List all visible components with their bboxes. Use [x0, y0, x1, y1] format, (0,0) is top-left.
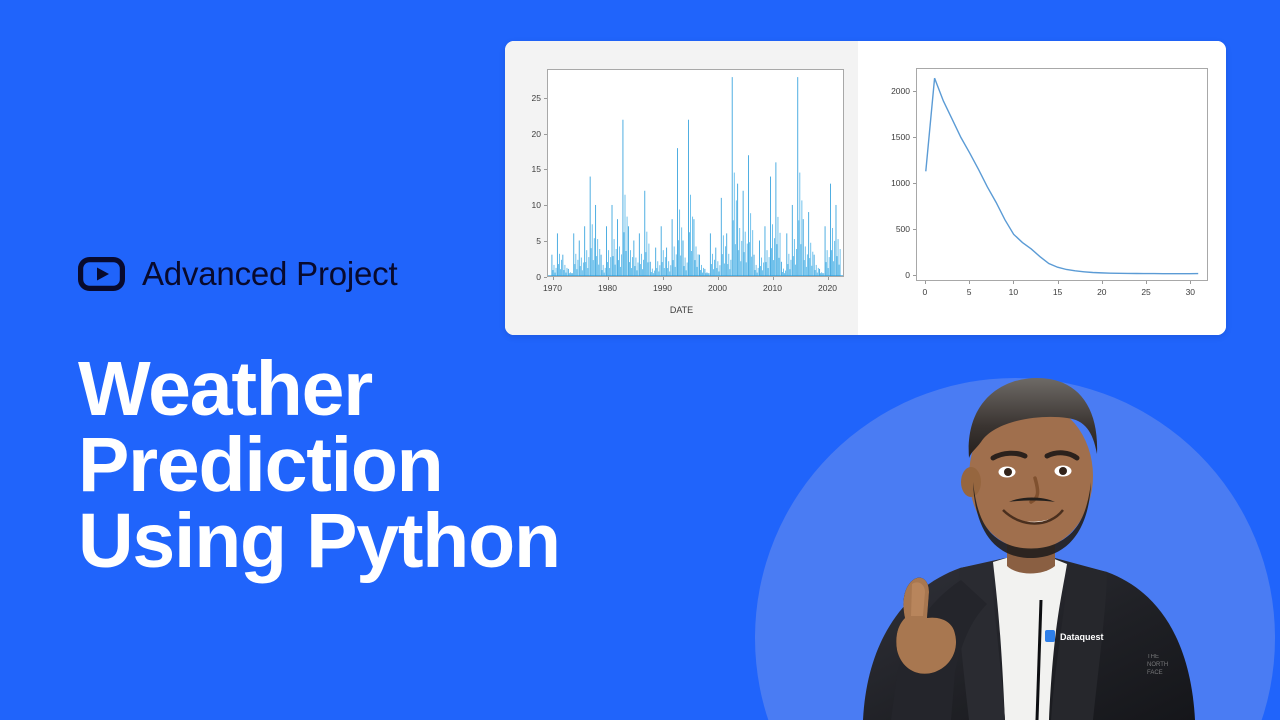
x-tick-label: 25	[1141, 287, 1150, 297]
x-tick-label: 2000	[708, 283, 727, 293]
x-axis-title-left: DATE	[505, 305, 858, 315]
y-tick-label: 5	[505, 236, 541, 246]
x-tick-mark	[718, 277, 719, 280]
y-tick-label: 2000	[858, 86, 910, 96]
page-title: Weather Prediction Using Python	[78, 352, 778, 580]
y-tick-mark	[913, 275, 916, 276]
svg-text:NORTH: NORTH	[1147, 662, 1168, 668]
precipitation-chart-panel: 0510152025197019801990200020102020 DATE	[505, 41, 858, 335]
play-button-icon	[78, 257, 125, 291]
y-tick-label: 25	[505, 93, 541, 103]
x-tick-label: 2020	[818, 283, 837, 293]
x-tick-mark	[773, 277, 774, 280]
x-tick-label: 1970	[543, 283, 562, 293]
instructor-photo: Dataquest THE NORTH FACE	[755, 300, 1275, 720]
title-line-1: Weather	[78, 352, 778, 428]
distribution-chart-panel: 0500100015002000051015202530	[858, 41, 1226, 335]
y-tick-label: 1000	[858, 178, 910, 188]
x-tick-label: 5	[967, 287, 972, 297]
x-tick-mark	[1146, 281, 1147, 284]
y-tick-mark	[544, 277, 547, 278]
x-tick-label: 2010	[763, 283, 782, 293]
y-tick-label: 20	[505, 129, 541, 139]
y-tick-mark	[544, 205, 547, 206]
x-tick-label: 10	[1009, 287, 1018, 297]
y-tick-label: 15	[505, 164, 541, 174]
x-tick-mark	[1190, 281, 1191, 284]
y-tick-mark	[913, 183, 916, 184]
advanced-project-badge: Advanced Project	[78, 255, 397, 293]
precipitation-bar-chart	[547, 69, 844, 277]
y-tick-mark	[544, 241, 547, 242]
distribution-line-chart	[916, 68, 1208, 281]
y-tick-mark	[913, 229, 916, 230]
y-tick-label: 0	[858, 270, 910, 280]
svg-text:THE: THE	[1147, 654, 1159, 660]
x-tick-mark	[1013, 281, 1014, 284]
y-tick-label: 0	[505, 272, 541, 282]
x-tick-mark	[969, 281, 970, 284]
x-tick-mark	[828, 277, 829, 280]
title-line-2: Prediction	[78, 428, 778, 504]
x-tick-label: 15	[1053, 287, 1062, 297]
x-tick-mark	[608, 277, 609, 280]
y-tick-mark	[544, 98, 547, 99]
y-tick-label: 500	[858, 224, 910, 234]
x-tick-label: 20	[1097, 287, 1106, 297]
y-tick-mark	[913, 91, 916, 92]
x-tick-mark	[1102, 281, 1103, 284]
x-tick-label: 30	[1186, 287, 1195, 297]
y-tick-label: 1500	[858, 132, 910, 142]
x-tick-mark	[1058, 281, 1059, 284]
x-tick-mark	[553, 277, 554, 280]
badge-label: Advanced Project	[142, 255, 397, 293]
y-tick-mark	[544, 134, 547, 135]
x-tick-label: 0	[922, 287, 927, 297]
x-tick-label: 1980	[598, 283, 617, 293]
x-tick-mark	[663, 277, 664, 280]
title-line-3: Using Python	[78, 504, 778, 580]
y-tick-mark	[544, 169, 547, 170]
x-tick-label: 1990	[653, 283, 672, 293]
y-tick-label: 10	[505, 200, 541, 210]
x-tick-mark	[925, 281, 926, 284]
svg-text:Dataquest: Dataquest	[1060, 632, 1104, 642]
y-tick-mark	[913, 137, 916, 138]
charts-card: 0510152025197019801990200020102020 DATE …	[505, 41, 1226, 335]
svg-text:FACE: FACE	[1147, 670, 1163, 676]
